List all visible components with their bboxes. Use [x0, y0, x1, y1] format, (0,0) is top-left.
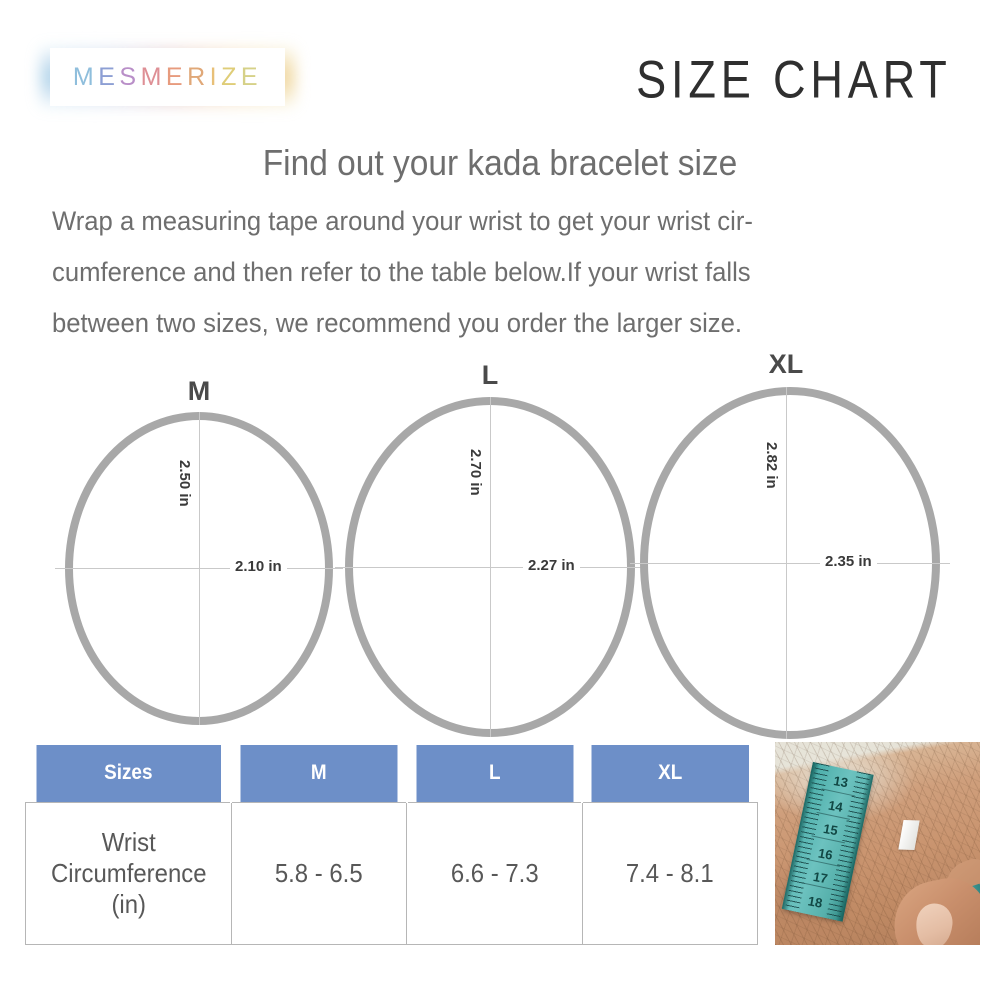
- row-label-line-3: (in): [34, 889, 222, 920]
- oval-diagrams: M 2.50 in 2.10 in L 2.70 in 2.27 in XL 2…: [0, 340, 1000, 740]
- logo-letter-7: Z: [221, 63, 241, 92]
- logo-letter-0: M: [73, 63, 98, 92]
- logo-letter-5: R: [187, 63, 210, 92]
- row-label-line-2: Circumference: [34, 858, 222, 889]
- oval-label-xl: XL: [769, 349, 804, 380]
- logo-letter-1: E: [98, 63, 119, 92]
- oval-label-m: M: [188, 376, 211, 407]
- table-header-m: M: [240, 745, 398, 802]
- table-row: Wrist Circumference (in) 5.8 - 6.5 6.6 -…: [26, 802, 758, 945]
- oval-width-label-m: 2.10 in: [230, 558, 287, 575]
- headline: Find out your kada bracelet size: [35, 142, 965, 184]
- intro-line-2: cumference and then refer to the table b…: [52, 247, 907, 298]
- oval-gridline-horizontal-m: [55, 568, 343, 569]
- tape-number-14: 14: [827, 797, 844, 814]
- oval-height-label-xl: 2.82 in: [763, 442, 780, 489]
- logo-letter-2: S: [119, 63, 140, 92]
- table-header-sizes: Sizes: [36, 745, 221, 802]
- table-cell-row-label: Wrist Circumference (in): [34, 802, 223, 945]
- logo-letter-6: I: [210, 63, 221, 92]
- intro-line-1: Wrap a measuring tape around your wrist …: [52, 196, 907, 247]
- photo-fingernail: [914, 902, 954, 945]
- oval-height-label-l: 2.70 in: [467, 449, 484, 496]
- tape-number-17: 17: [812, 869, 829, 886]
- table-cell-xl: 7.4 - 8.1: [589, 802, 750, 945]
- table-cell-m: 5.8 - 6.5: [238, 802, 399, 945]
- oval-gridline-horizontal-xl: [630, 563, 950, 564]
- logo-letter-8: E: [241, 63, 262, 92]
- oval-diagram-xl: XL 2.82 in 2.35 in: [640, 387, 940, 739]
- oval-width-label-xl: 2.35 in: [820, 553, 877, 570]
- page-title: SIZE CHART: [637, 48, 952, 110]
- brand-logo: MESMERIZE: [50, 48, 285, 106]
- table-header-xl: XL: [591, 745, 749, 802]
- logo-letter-4: E: [166, 63, 187, 92]
- oval-height-label-m: 2.50 in: [176, 460, 193, 507]
- brand-logo-text: MESMERIZE: [73, 63, 262, 92]
- oval-diagram-l: L 2.70 in 2.27 in: [345, 397, 635, 737]
- table-cell-l: 6.6 - 7.3: [414, 802, 575, 945]
- intro-paragraph: Wrap a measuring tape around your wrist …: [52, 196, 907, 349]
- oval-width-label-l: 2.27 in: [523, 557, 580, 574]
- tape-number-18: 18: [807, 893, 824, 910]
- size-table: Sizes M L XL Wrist Circumference (in) 5.…: [25, 745, 757, 945]
- tape-number-15: 15: [822, 821, 839, 838]
- oval-diagram-m: M 2.50 in 2.10 in: [65, 412, 333, 725]
- oval-gridline-horizontal-l: [335, 567, 645, 568]
- tape-number-16: 16: [817, 845, 834, 862]
- table-header-l: L: [415, 745, 573, 802]
- tape-number-13: 13: [832, 773, 849, 790]
- wrist-measurement-photo: 131415161718: [775, 742, 980, 945]
- logo-letter-3: M: [141, 63, 166, 92]
- table-header-row: Sizes M L XL: [26, 745, 758, 802]
- oval-label-l: L: [482, 360, 499, 391]
- row-label-line-1: Wrist: [34, 827, 222, 858]
- size-chart-page: MESMERIZE SIZE CHART Find out your kada …: [0, 0, 1000, 1000]
